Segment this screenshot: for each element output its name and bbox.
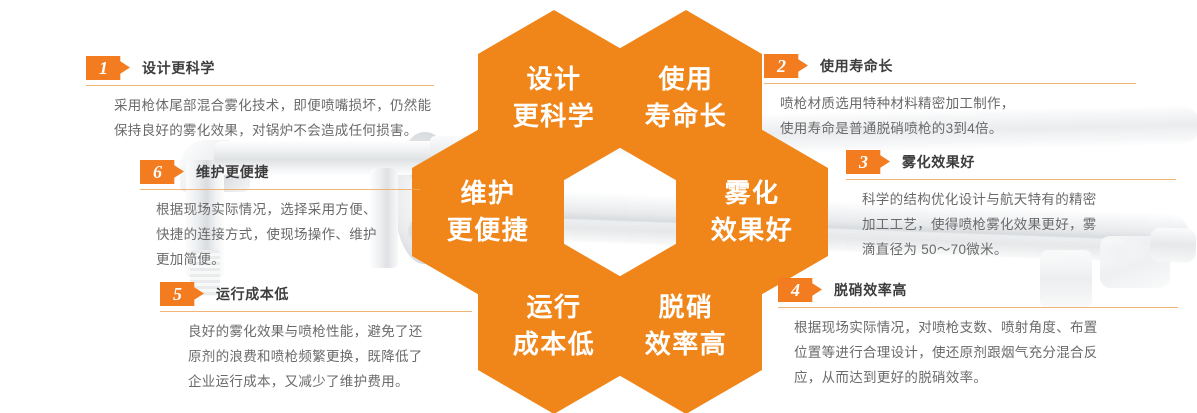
feature-3-body-line: 滴直径为 50～70微米。	[862, 237, 1176, 262]
feature-block-3: 3 雾化效果好 科学的结构优化设计与航天特有的精密 加工工艺，使得喷枪雾化效果更…	[846, 150, 1176, 262]
hexagon-maintenance-line2: 更便捷	[447, 212, 530, 249]
feature-block-1: 1 设计更科学 采用枪体尾部混合雾化技术，即便喷嘴损坏，仍然能 保持良好的雾化效…	[86, 56, 434, 143]
feature-2-header: 2 使用寿命长	[764, 54, 1136, 78]
feature-block-5: 5 运行成本低 良好的雾化效果与喷枪性能，避免了还 原剂的浪费和喷枪频繁更换，既…	[160, 282, 472, 394]
feature-4-body-line: 位置等进行合理设计，使还原剂跟烟气充分混合反	[794, 340, 1178, 365]
feature-2-title: 使用寿命长	[820, 56, 893, 76]
infographic-canvas: 设计 更科学 使用 寿命长 维护 更便捷 雾化 效果好 运行 成本低 脱硝 效率…	[0, 0, 1197, 413]
feature-2-divider	[764, 83, 1136, 84]
feature-block-2: 2 使用寿命长 喷枪材质选用特种材料精密加工制作， 使用寿命是普通脱硝喷枪的3到…	[764, 54, 1136, 141]
feature-2-body-line: 使用寿命是普通脱硝喷枪的3到4倍。	[780, 116, 1136, 141]
feature-4-body: 根据现场实际情况，对喷枪支数、喷射角度、布置 位置等进行合理设计，使还原剂跟烟气…	[778, 315, 1178, 390]
feature-2-body: 喷枪材质选用特种材料精密加工制作， 使用寿命是普通脱硝喷枪的3到4倍。	[764, 91, 1136, 141]
feature-1-body: 采用枪体尾部混合雾化技术，即便喷嘴损坏，仍然能 保持良好的雾化效果，对锅炉不会造…	[86, 93, 434, 143]
hexagon-denitration-line2: 效率高	[645, 326, 728, 363]
hexagon-design-line1: 设计	[526, 61, 581, 98]
feature-6-body-line: 更加简便。	[156, 247, 420, 272]
hexagon-atomization-line1: 雾化	[724, 175, 779, 212]
hexagon-cluster: 设计 更科学 使用 寿命长 维护 更便捷 雾化 效果好 运行 成本低 脱硝 效率…	[430, 4, 778, 404]
hexagon-denitration-line1: 脱硝	[658, 289, 713, 326]
feature-4-divider	[778, 307, 1178, 308]
feature-6-body-line: 快捷的连接方式，使现场操作、维护	[156, 222, 420, 247]
feature-6-body: 根据现场实际情况，选择采用方便、 快捷的连接方式，使现场操作、维护 更加简便。	[140, 197, 420, 272]
feature-block-4: 4 脱硝效率高 根据现场实际情况，对喷枪支数、喷射角度、布置 位置等进行合理设计…	[778, 278, 1178, 390]
feature-3-body-line: 科学的结构优化设计与航天特有的精密	[862, 187, 1176, 212]
feature-3-body: 科学的结构优化设计与航天特有的精密 加工工艺，使得喷枪雾化效果更好，雾 滴直径为…	[846, 187, 1176, 262]
feature-3-header: 3 雾化效果好	[846, 150, 1176, 174]
feature-6-header: 6 维护更便捷	[140, 160, 420, 184]
feature-5-number-badge: 5	[160, 282, 204, 306]
feature-3-number-badge: 3	[846, 150, 890, 174]
feature-1-title: 设计更科学	[142, 58, 215, 78]
feature-5-title: 运行成本低	[216, 284, 289, 304]
feature-1-number-badge: 1	[86, 56, 130, 80]
feature-4-header: 4 脱硝效率高	[778, 278, 1178, 302]
feature-4-number-badge: 4	[778, 278, 822, 302]
feature-5-body-line: 良好的雾化效果与喷枪性能，避免了还	[188, 319, 472, 344]
hexagon-cost-line1: 运行	[526, 289, 581, 326]
hexagon-maintenance-line1: 维护	[460, 175, 515, 212]
feature-6-title: 维护更便捷	[196, 162, 269, 182]
feature-2-number-badge: 2	[764, 54, 808, 78]
hexagon-design-line2: 更科学	[513, 98, 596, 135]
hexagon-lifespan-line1: 使用	[658, 61, 713, 98]
feature-5-body-line: 企业运行成本，又减少了维护费用。	[188, 369, 472, 394]
feature-3-divider	[846, 179, 1176, 180]
feature-6-divider	[140, 189, 420, 190]
feature-4-body-line: 应，从而达到更好的脱硝效率。	[794, 365, 1178, 390]
feature-1-body-line: 保持良好的雾化效果，对锅炉不会造成任何损害。	[114, 118, 434, 143]
hexagon-lifespan-line2: 寿命长	[645, 98, 728, 135]
feature-4-title: 脱硝效率高	[834, 280, 907, 300]
hexagon-cost-line2: 成本低	[513, 326, 596, 363]
feature-2-body-line: 喷枪材质选用特种材料精密加工制作，	[780, 91, 1136, 116]
feature-6-number-badge: 6	[140, 160, 184, 184]
feature-1-body-line: 采用枪体尾部混合雾化技术，即便喷嘴损坏，仍然能	[114, 93, 434, 118]
feature-5-header: 5 运行成本低	[160, 282, 472, 306]
hexagon-atomization-line2: 效果好	[711, 212, 794, 249]
feature-5-body-line: 原剂的浪费和喷枪频繁更换，既降低了	[188, 344, 472, 369]
feature-5-divider	[160, 311, 472, 312]
feature-block-6: 6 维护更便捷 根据现场实际情况，选择采用方便、 快捷的连接方式，使现场操作、维…	[140, 160, 420, 272]
feature-1-header: 1 设计更科学	[86, 56, 434, 80]
feature-3-title: 雾化效果好	[902, 152, 975, 172]
feature-1-divider	[86, 85, 434, 86]
feature-5-body: 良好的雾化效果与喷枪性能，避免了还 原剂的浪费和喷枪频繁更换，既降低了 企业运行…	[160, 319, 472, 394]
feature-3-body-line: 加工工艺，使得喷枪雾化效果更好，雾	[862, 212, 1176, 237]
feature-4-body-line: 根据现场实际情况，对喷枪支数、喷射角度、布置	[794, 315, 1178, 340]
feature-6-body-line: 根据现场实际情况，选择采用方便、	[156, 197, 420, 222]
